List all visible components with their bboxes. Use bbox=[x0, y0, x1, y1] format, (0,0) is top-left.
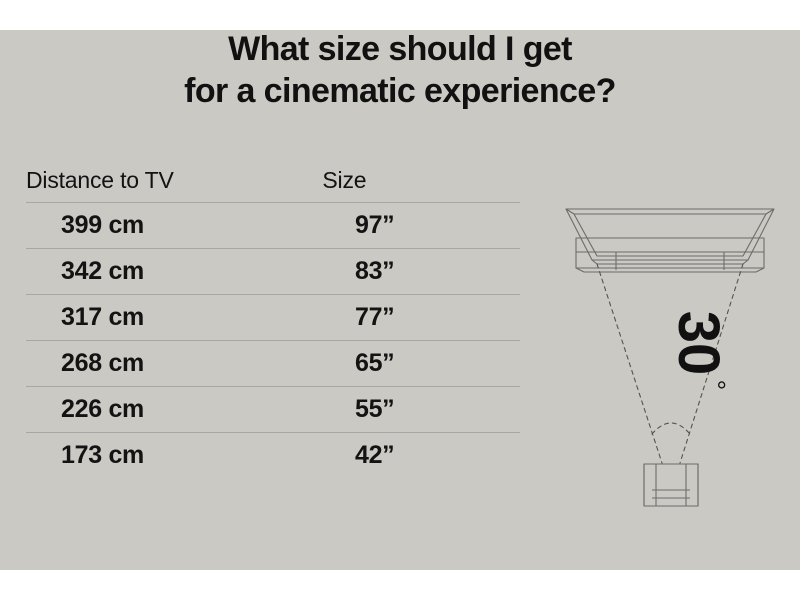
distance-value: 342 cm bbox=[26, 257, 144, 286]
seat-outline bbox=[644, 464, 698, 506]
size-value: 97” bbox=[322, 211, 394, 240]
distance-value: 317 cm bbox=[26, 303, 144, 332]
cell-distance: 399 cm bbox=[26, 203, 322, 249]
size-value: 55” bbox=[322, 395, 394, 424]
seat-armrest-left bbox=[644, 464, 656, 506]
seat-armrest-right bbox=[686, 464, 698, 506]
cell-size: 83” bbox=[322, 249, 520, 295]
table-body: 399 cm 97” 342 cm 83” 317 cm 77” 268 cm … bbox=[26, 203, 520, 479]
page-title-line-2: for a cinematic experience? bbox=[0, 70, 800, 112]
angle-label: 30 ° bbox=[666, 311, 731, 390]
column-header-distance: Distance to TV bbox=[26, 158, 322, 203]
cell-size: 42” bbox=[322, 433, 520, 479]
size-value: 77” bbox=[322, 303, 394, 332]
size-table-container: Distance to TV Size 399 cm 97” 342 cm 83… bbox=[26, 158, 520, 478]
table-header-row: Distance to TV Size bbox=[26, 158, 520, 203]
page-title: What size should I get for a cinematic e… bbox=[0, 28, 800, 112]
tv-top-view-icon bbox=[566, 209, 774, 272]
tv-stand-bar-front bbox=[576, 268, 764, 272]
cell-distance: 173 cm bbox=[26, 433, 322, 479]
cell-size: 97” bbox=[322, 203, 520, 249]
distance-value: 268 cm bbox=[26, 349, 144, 378]
seat-top-view-icon bbox=[644, 464, 698, 506]
table-row: 317 cm 77” bbox=[26, 295, 520, 341]
cell-size: 55” bbox=[322, 387, 520, 433]
size-value: 65” bbox=[322, 349, 394, 378]
distance-value: 226 cm bbox=[26, 395, 144, 424]
page-title-line-1: What size should I get bbox=[0, 28, 800, 70]
column-header-size: Size bbox=[322, 158, 520, 203]
screenshot-canvas: What size should I get for a cinematic e… bbox=[0, 0, 800, 600]
cell-distance: 268 cm bbox=[26, 341, 322, 387]
table-row: 226 cm 55” bbox=[26, 387, 520, 433]
tv-panel-bottom-lip bbox=[592, 260, 748, 264]
size-value: 83” bbox=[322, 257, 394, 286]
table-row: 173 cm 42” bbox=[26, 433, 520, 479]
tv-panel-top-depth bbox=[566, 209, 774, 214]
cell-distance: 226 cm bbox=[26, 387, 322, 433]
table-header: Distance to TV Size bbox=[26, 158, 520, 203]
table-row: 399 cm 97” bbox=[26, 203, 520, 249]
cell-distance: 342 cm bbox=[26, 249, 322, 295]
distance-value: 399 cm bbox=[26, 211, 144, 240]
cell-distance: 317 cm bbox=[26, 295, 322, 341]
tv-panel-inner bbox=[574, 214, 766, 256]
angle-unit-text: ° bbox=[701, 380, 731, 390]
cell-size: 65” bbox=[322, 341, 520, 387]
table-row: 342 cm 83” bbox=[26, 249, 520, 295]
viewing-angle-diagram: 30 ° bbox=[540, 180, 800, 520]
cell-size: 77” bbox=[322, 295, 520, 341]
angle-arc bbox=[652, 423, 690, 434]
angle-value-text: 30 bbox=[666, 311, 731, 376]
size-value: 42” bbox=[322, 441, 394, 470]
table-row: 268 cm 65” bbox=[26, 341, 520, 387]
distance-value: 173 cm bbox=[26, 441, 144, 470]
size-table: Distance to TV Size 399 cm 97” 342 cm 83… bbox=[26, 158, 520, 478]
